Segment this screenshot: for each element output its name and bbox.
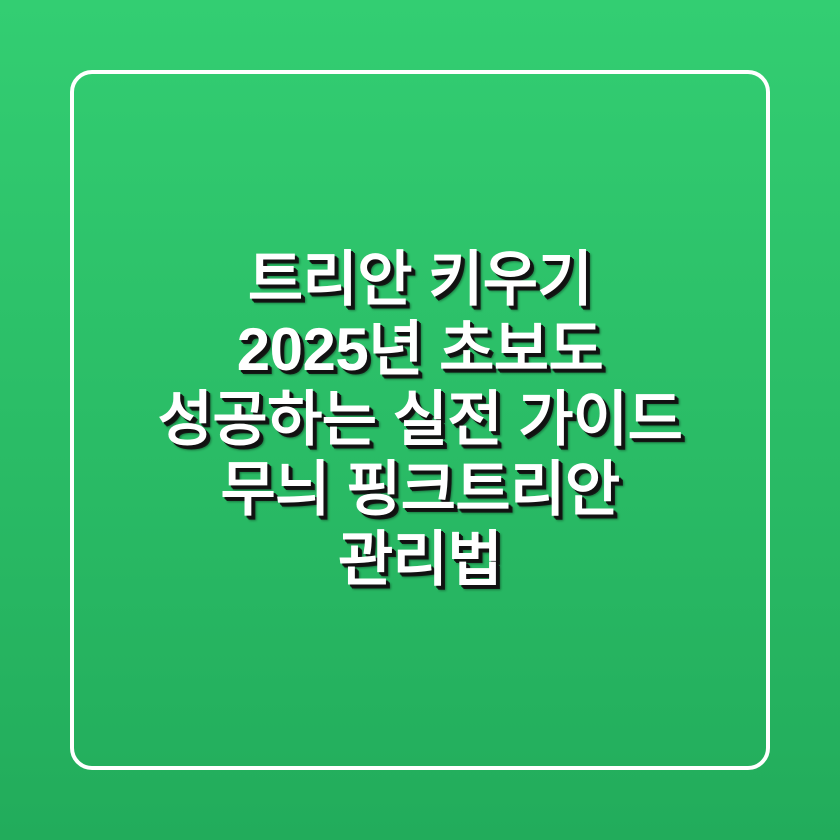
headline-line-1: 트리안 키우기 [86,245,754,315]
headline-line-4: 무늬 핑크트리안 [86,455,754,525]
headline-line-5: 관리법 [86,525,754,595]
headline-block: 트리안 키우기 2025년 초보도 성공하는 실전 가이드 무늬 핑크트리안 관… [0,0,840,840]
thumbnail-card: 트리안 키우기 2025년 초보도 성공하는 실전 가이드 무늬 핑크트리안 관… [0,0,840,840]
headline-line-2: 2025년 초보도 [86,315,754,385]
headline-line-3: 성공하는 실전 가이드 [86,385,754,455]
